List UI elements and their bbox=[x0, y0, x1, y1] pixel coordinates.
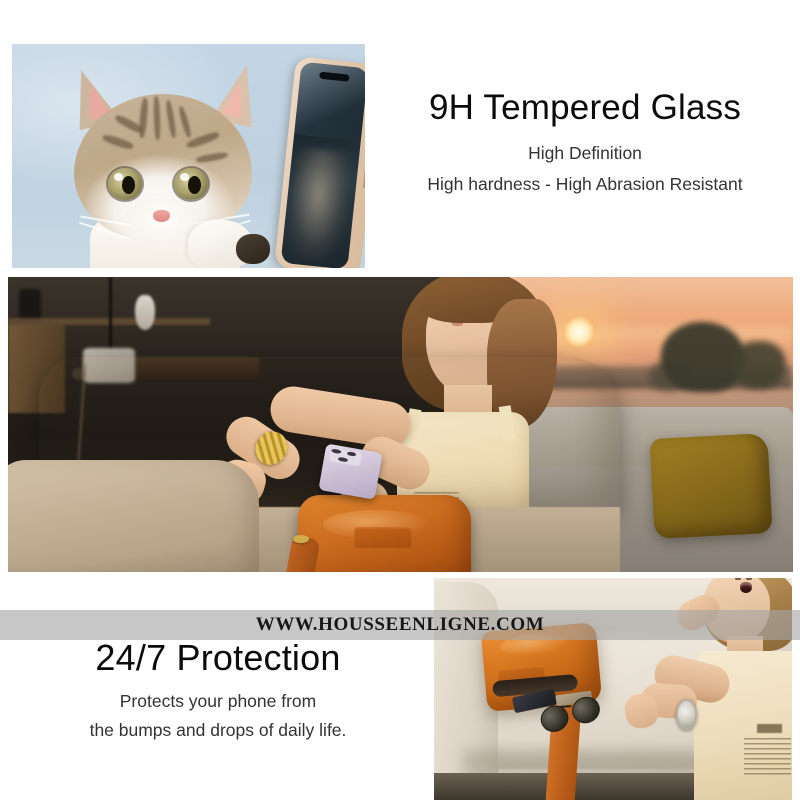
protection-subtitle-1: Protects your phone from bbox=[16, 690, 420, 714]
couch-armrest bbox=[8, 460, 259, 572]
tank-top-text-print bbox=[744, 738, 790, 775]
phone-being-stored bbox=[318, 444, 382, 500]
protection-subtitle-2: the bumps and drops of daily life. bbox=[16, 719, 420, 743]
room-post bbox=[109, 277, 112, 354]
protection-title: 24/7 Protection bbox=[16, 638, 420, 678]
room-jar bbox=[19, 289, 41, 321]
tree-silhouette-small bbox=[732, 341, 786, 389]
photo-cat-with-phone bbox=[12, 44, 365, 268]
cat-nose bbox=[153, 210, 170, 222]
handbag-front-tab bbox=[354, 527, 413, 548]
cat-eye-right bbox=[174, 168, 208, 200]
tempered-glass-text-block: 9H Tempered Glass High Definition High h… bbox=[378, 88, 792, 195]
open-mouth-shock bbox=[740, 582, 752, 593]
watermark-text: WWW.HOUSSEENLIGNE.COM bbox=[0, 610, 800, 640]
product-feature-infographic: 9H Tempered Glass High Definition High h… bbox=[0, 0, 800, 800]
cat-paw-dark bbox=[236, 234, 270, 264]
tempered-glass-subtitle-2: High hardness - High Abrasion Resistant bbox=[378, 173, 792, 196]
phone-side-button bbox=[363, 136, 365, 188]
cat-eye-left bbox=[108, 168, 142, 200]
room-vase bbox=[135, 295, 154, 330]
orange-handbag bbox=[298, 495, 471, 572]
photo-living-room-bag bbox=[8, 277, 793, 572]
olive-throw-pillow bbox=[649, 433, 772, 539]
phone-camera-module bbox=[328, 447, 363, 467]
tempered-glass-title: 9H Tempered Glass bbox=[378, 88, 792, 128]
protection-text-block: 24/7 Protection Protects your phone from… bbox=[16, 638, 420, 743]
tempered-glass-subtitle-1: High Definition bbox=[378, 142, 792, 165]
cat-figure bbox=[60, 60, 310, 268]
wristwatch bbox=[676, 699, 697, 730]
tank-top-logo bbox=[757, 724, 782, 732]
